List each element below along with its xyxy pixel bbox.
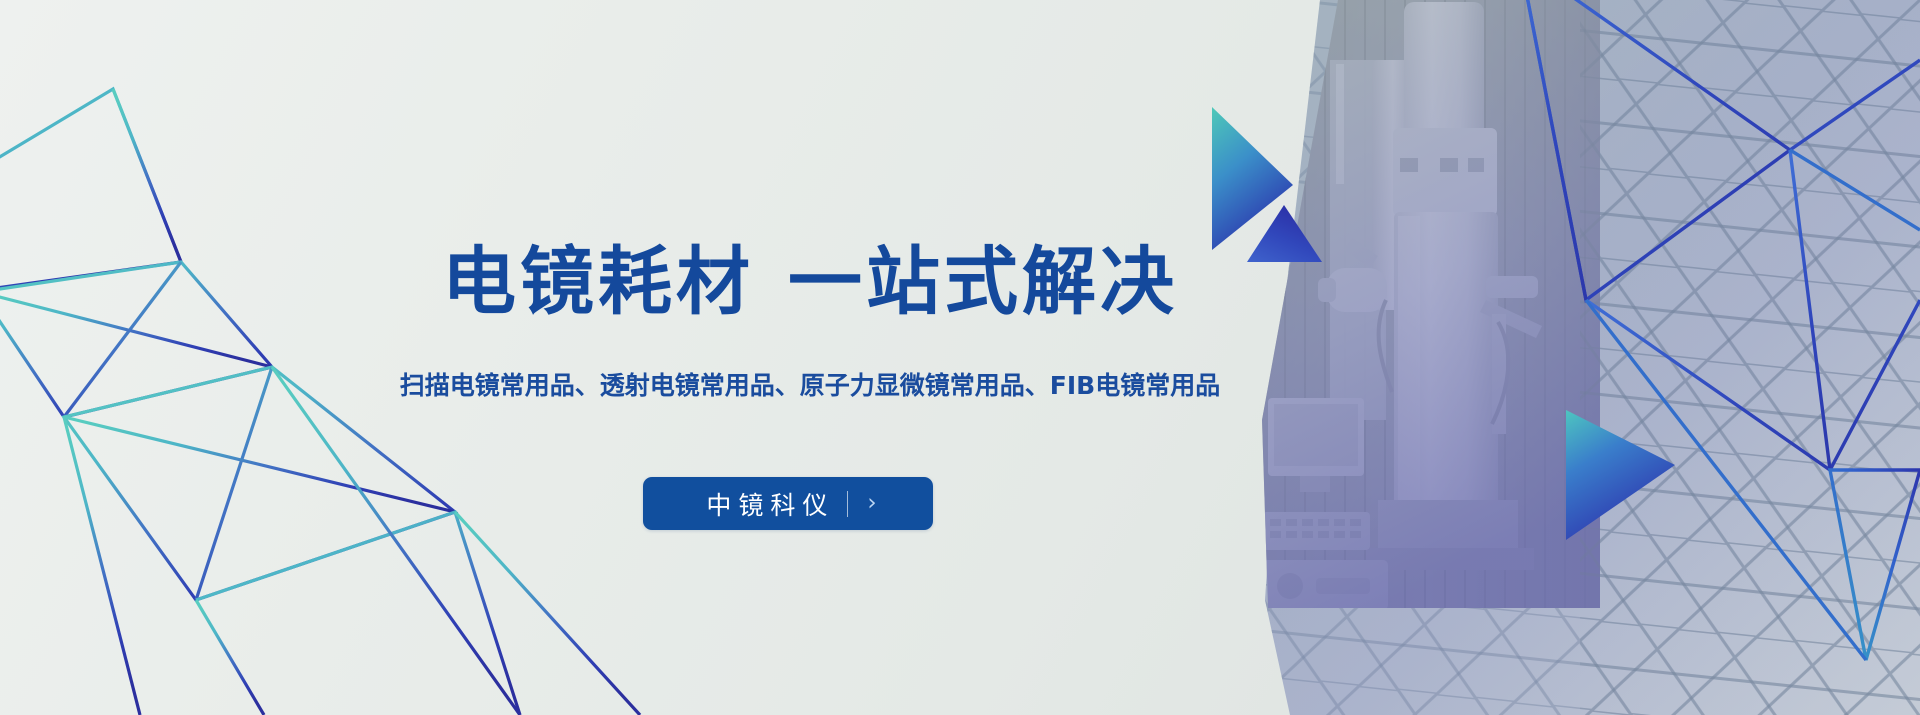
cta-divider (847, 491, 848, 517)
cta-button-zhongjing-keyi[interactable]: 中镜科仪 › (643, 477, 933, 530)
banner-copy-block: 电镜耗材一站式解决 扫描电镜常用品、透射电镜常用品、原子力显微镜常用品、FIB电… (0, 0, 1300, 715)
headline-part-2: 一站式解决 (788, 239, 1178, 325)
banner-subtitle: 扫描电镜常用品、透射电镜常用品、原子力显微镜常用品、FIB电镜常用品 (365, 372, 1255, 400)
hero-banner: 电镜耗材一站式解决 扫描电镜常用品、透射电镜常用品、原子力显微镜常用品、FIB电… (0, 0, 1920, 715)
triangle-play-bottom (1566, 410, 1675, 540)
headline-part-1: 电镜耗材 (442, 239, 754, 325)
banner-headline: 电镜耗材一站式解决 (405, 245, 1215, 319)
cta-button-label: 中镜科仪 (699, 486, 834, 522)
chevron-right-icon: › (867, 492, 876, 515)
